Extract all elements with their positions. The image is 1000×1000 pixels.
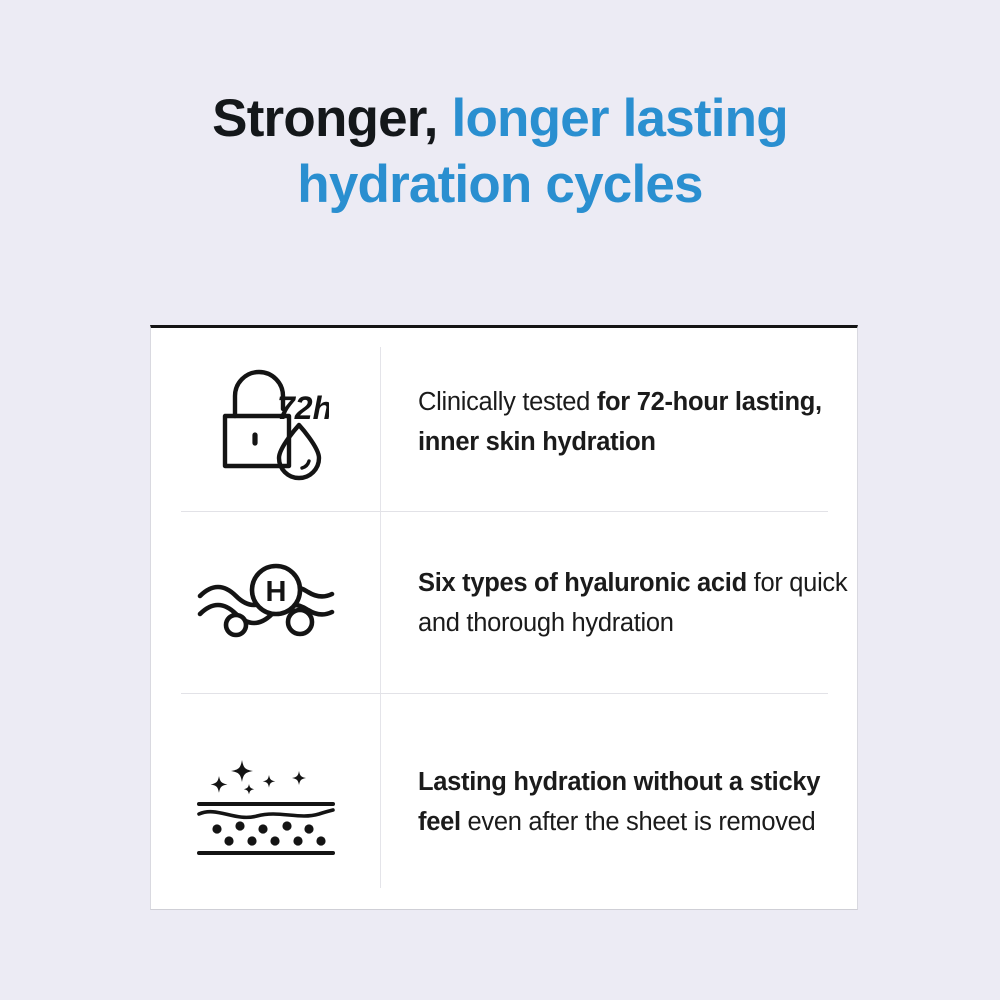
svg-text:72h: 72h [277, 390, 329, 426]
headline-dark-text: Stronger, [212, 89, 437, 148]
benefit-text-2: Six types of hyaluronic acid for quick a… [418, 563, 857, 643]
benefit-row-3: Lasting hydration without a sticky feel … [151, 694, 857, 910]
benefit-text-cell-1: Clinically tested for 72-hour lasting, i… [380, 382, 857, 462]
benefit-text-3: Lasting hydration without a sticky feel … [418, 762, 857, 842]
benefit-3-regular: even after the sheet is removed [461, 808, 816, 836]
benefit-icon-cell-2: H [151, 560, 380, 646]
benefit-1-regular-lead: Clinically tested [418, 388, 597, 416]
benefit-icon-cell-1: 72h [151, 363, 380, 481]
padlock-72h-droplet-icon: 72h [203, 363, 329, 481]
headline-line-1: Stronger, longer lasting [0, 86, 1000, 152]
benefit-row-1: 72h Clinically tested for 72-hour lastin… [151, 328, 857, 512]
benefit-2-bold: Six types of hyaluronic acid [418, 569, 747, 597]
headline-blue-text-1: longer lasting [452, 89, 788, 148]
benefit-icon-cell-3 [151, 746, 380, 858]
benefit-row-2: H Six types of hyaluronic acid for quick… [151, 512, 857, 694]
benefits-rows: 72h Clinically tested for 72-hour lastin… [151, 328, 857, 909]
headline-line-2: hydration cycles [0, 152, 1000, 218]
benefit-text-cell-2: Six types of hyaluronic acid for quick a… [380, 563, 857, 643]
water-waves-hyaluronic-icon: H [196, 560, 336, 646]
page-headline: Stronger, longer lasting hydration cycle… [0, 86, 1000, 218]
benefit-text-cell-3: Lasting hydration without a sticky feel … [380, 762, 857, 842]
benefits-panel: 72h Clinically tested for 72-hour lastin… [150, 325, 858, 910]
headline-blue-text-2: hydration cycles [297, 155, 702, 214]
benefit-text-1: Clinically tested for 72-hour lasting, i… [418, 382, 857, 462]
skin-layer-sparkles-icon [195, 746, 337, 858]
svg-text:H: H [265, 576, 286, 608]
